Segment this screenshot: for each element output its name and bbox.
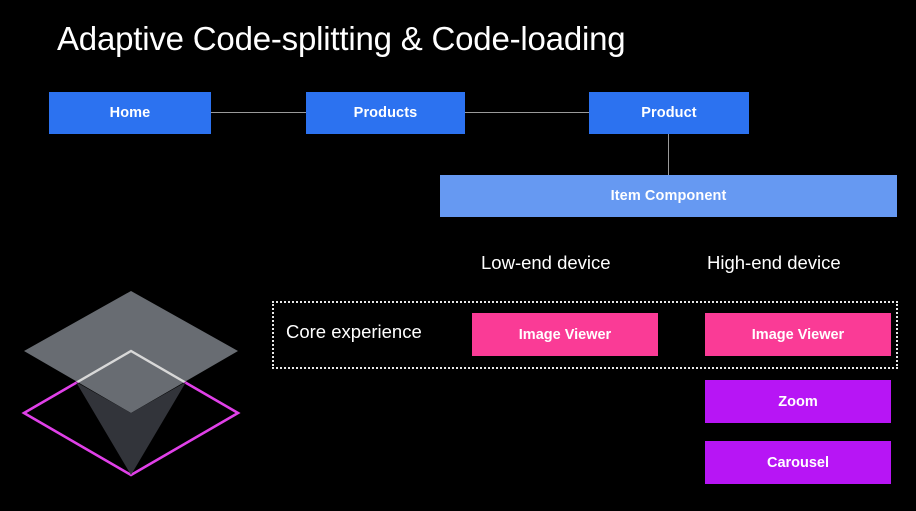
column-header-high-end-device: High-end device (707, 252, 841, 274)
page-title: Adaptive Code-splitting & Code-loading (57, 19, 625, 59)
slide-canvas: Adaptive Code-splitting & Code-loading H… (0, 0, 916, 511)
isometric-layers-icon (14, 280, 254, 490)
flow-node-products[interactable]: Products (306, 92, 465, 134)
core-experience-label: Core experience (286, 321, 422, 343)
chip-image-viewer-low-end[interactable]: Image Viewer (472, 313, 658, 356)
chip-carousel[interactable]: Carousel (705, 441, 891, 484)
connector-products-product (463, 112, 591, 113)
flow-node-product[interactable]: Product (589, 92, 749, 134)
column-header-low-end-device: Low-end device (481, 252, 611, 274)
connector-home-products (209, 112, 308, 113)
connector-product-item (668, 133, 669, 176)
flow-node-home[interactable]: Home (49, 92, 211, 134)
chip-image-viewer-high-end[interactable]: Image Viewer (705, 313, 891, 356)
flow-node-item-component[interactable]: Item Component (440, 175, 897, 217)
chip-zoom[interactable]: Zoom (705, 380, 891, 423)
